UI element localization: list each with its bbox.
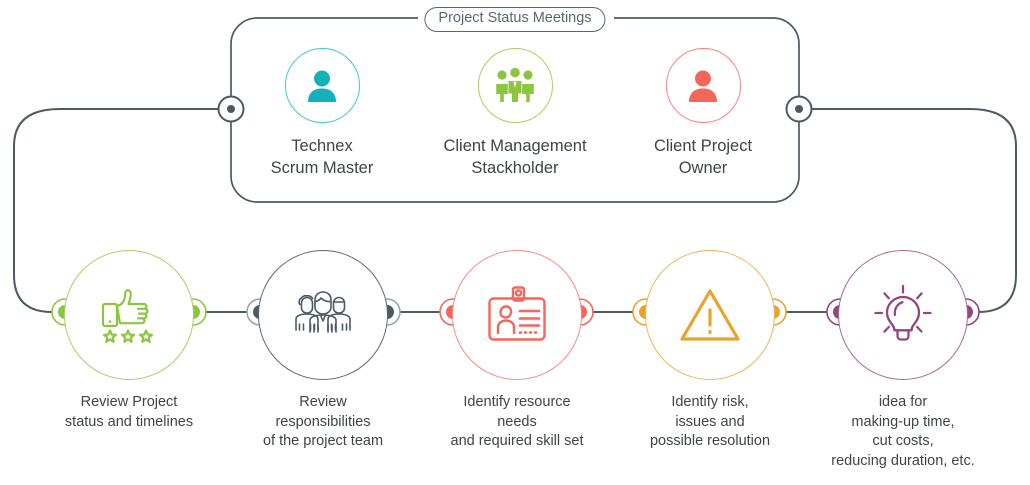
participant-label: Client Management Stackholder	[425, 136, 605, 180]
person-icon	[683, 66, 723, 106]
panel-title-chip: Project Status Meetings	[424, 7, 605, 32]
step-label: Identify resource needs and required ski…	[417, 393, 617, 452]
participant-icon-circle	[666, 48, 741, 123]
step-label: Identify risk, issues and possible resol…	[610, 393, 810, 452]
lightbulb-idea-icon	[872, 284, 934, 346]
participant-label: Technex Scrum Master	[232, 136, 412, 180]
step-icon-circle	[258, 250, 388, 380]
warning-triangle-icon	[679, 287, 741, 343]
panel-title-text: Project Status Meetings	[438, 10, 591, 26]
step-idea-for-making-up-time[interactable]: idea for making-up time, cut costs, redu…	[803, 250, 1003, 471]
step-icon-circle	[452, 250, 582, 380]
participant-client-project-owner[interactable]: Client Project Owner	[613, 48, 793, 180]
team-people-icon	[292, 290, 354, 340]
person-icon	[302, 66, 342, 106]
step-label: Review responsibilities of the project t…	[223, 393, 423, 452]
participant-label: Client Project Owner	[613, 136, 793, 180]
participant-icon-circle	[285, 48, 360, 123]
participant-technex-scrum-master[interactable]: Technex Scrum Master	[232, 48, 412, 180]
step-icon-circle	[838, 250, 968, 380]
participant-client-management-stackholder[interactable]: Client Management Stackholder	[425, 48, 605, 180]
step-review-project-status[interactable]: Review Project status and timelines	[29, 250, 229, 432]
group-of-people-icon	[494, 66, 536, 106]
step-icon-circle	[64, 250, 194, 380]
id-badge-icon	[486, 286, 548, 344]
step-icon-circle	[645, 250, 775, 380]
step-review-responsibilities[interactable]: Review responsibilities of the project t…	[223, 250, 423, 452]
step-label: idea for making-up time, cut costs, redu…	[803, 393, 1003, 471]
participant-icon-circle	[478, 48, 553, 123]
thumbs-up-stars-icon	[98, 284, 160, 346]
diagram-canvas: Project Status Meetings Technex Scrum Ma…	[0, 0, 1030, 485]
step-identify-resource-needs[interactable]: Identify resource needs and required ski…	[417, 250, 617, 452]
step-label: Review Project status and timelines	[29, 393, 229, 432]
step-identify-risk[interactable]: Identify risk, issues and possible resol…	[610, 250, 810, 452]
